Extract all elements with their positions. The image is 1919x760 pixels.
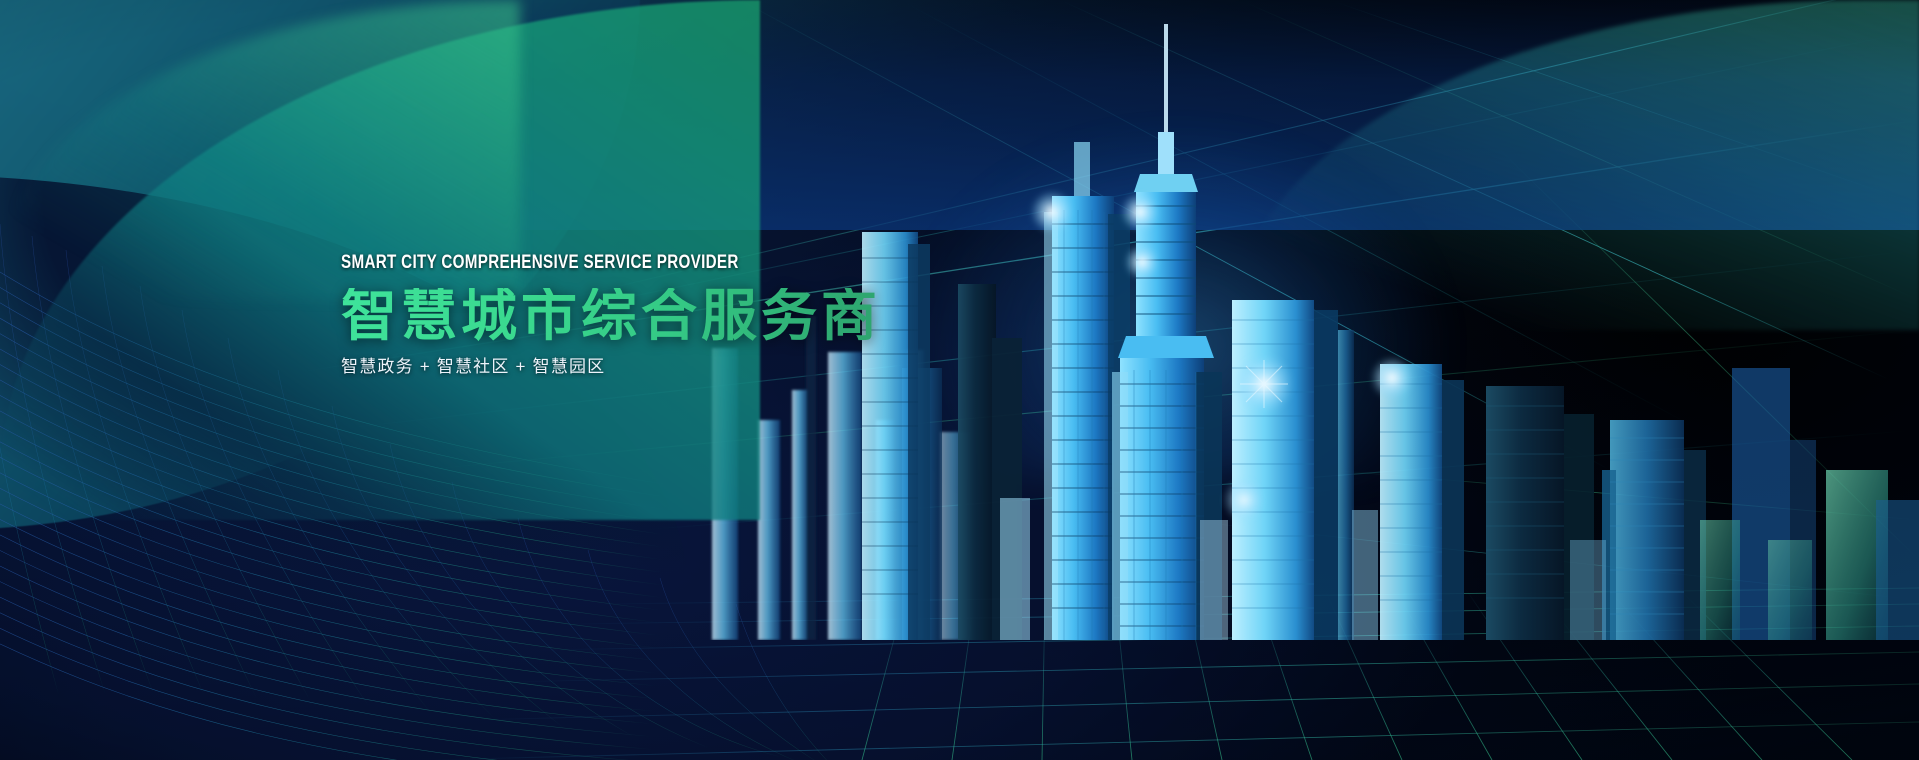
eyebrow-tagline: SMART CITY COMPREHENSIVE SERVICE PROVIDE… (341, 253, 853, 272)
page-title: 智慧城市综合服务商 (341, 288, 981, 344)
vignette-overlay (0, 0, 1919, 760)
subtitle: 智慧政务 + 智慧社区 + 智慧园区 (341, 358, 981, 375)
teal-swoosh-mask (0, 175, 690, 605)
ground-plane (520, 0, 1919, 230)
hero-text-block: SMART CITY COMPREHENSIVE SERVICE PROVIDE… (341, 253, 981, 375)
background-gradient-base (0, 0, 1919, 760)
smart-city-banner: SMART CITY COMPREHENSIVE SERVICE PROVIDE… (0, 0, 1919, 760)
city-glow (880, 0, 1500, 480)
green-city-veil (1230, 0, 1919, 330)
background-navy-body (0, 0, 1919, 760)
background-dark-right (0, 0, 1919, 760)
light-beam-lines (0, 0, 1919, 760)
perspective-ground-grid (0, 0, 1919, 760)
